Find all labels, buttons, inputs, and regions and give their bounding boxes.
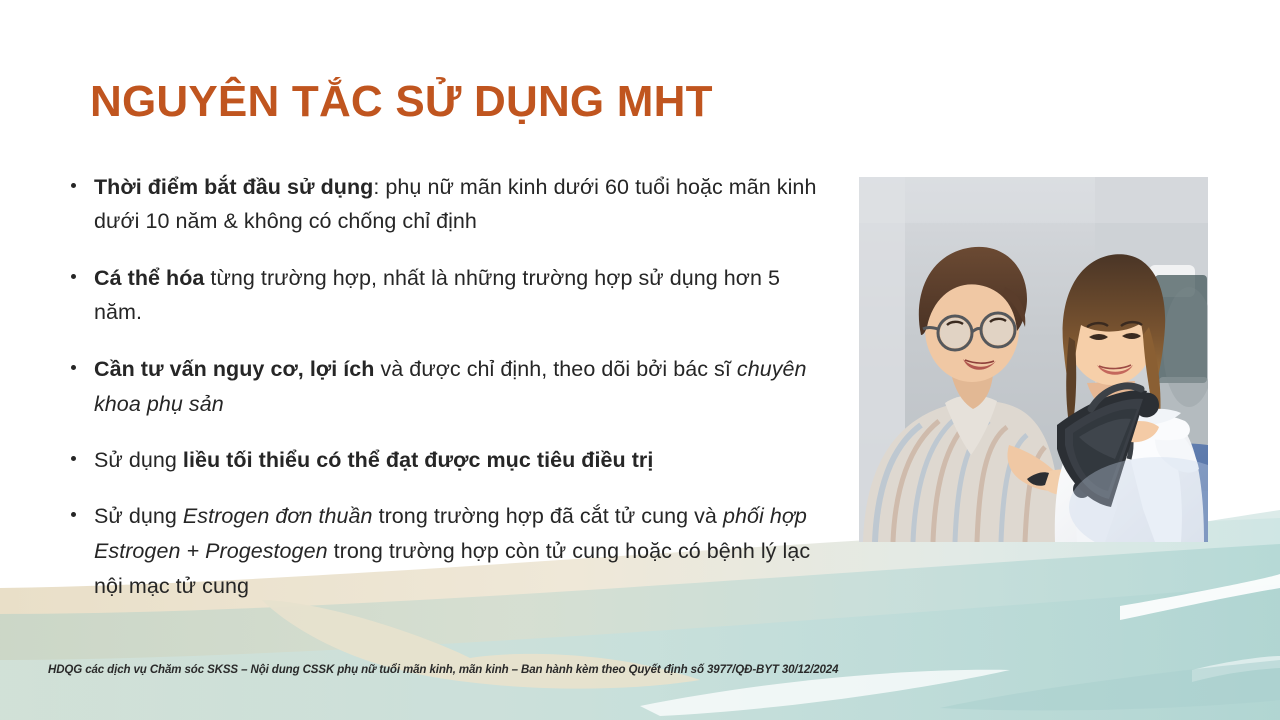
page-title: NGUYÊN TẮC SỬ DỤNG MHT xyxy=(90,77,713,128)
bullet-5-mid-1: trong trường hợp đã cắt tử cung và xyxy=(373,504,723,528)
bullet-can-tu-van: Cần tư vấn nguy cơ, lợi ích và được chỉ … xyxy=(62,352,822,422)
bullet-4-bold-tail: liều tối thiểu có thể đạt được mục tiêu … xyxy=(183,448,653,472)
bullet-4-lead: Sử dụng xyxy=(94,448,183,472)
bullet-dot-icon xyxy=(71,456,76,461)
slide-nguyen-tac-su-dung-mht: NGUYÊN TẮC SỬ DỤNG MHT Thời điểm bắt đầu… xyxy=(0,0,1280,720)
bullet-dot-icon xyxy=(71,512,76,517)
bullet-3-rest: và được chỉ định, theo dõi bởi bác sĩ xyxy=(374,357,736,381)
bullet-2-lead: Cá thể hóa xyxy=(94,266,204,290)
bullet-5-lead: Sử dụng xyxy=(94,504,183,528)
bullet-ca-the-hoa: Cá thể hóa từng trường hợp, nhất là nhữn… xyxy=(62,261,822,331)
clinic-consultation-photo xyxy=(859,177,1208,542)
bullet-list: Thời điểm bắt đầu sử dụng: phụ nữ mãn ki… xyxy=(62,148,822,604)
bullet-lieu-toi-thieu: Sử dụng liều tối thiểu có thể đạt được m… xyxy=(62,443,822,478)
bullet-estrogen: Sử dụng Estrogen đơn thuần trong trường … xyxy=(62,499,822,603)
bullet-5-italic-estrogen: Estrogen đơn thuần xyxy=(183,504,373,528)
bullet-thoi-diem-bat-dau: Thời điểm bắt đầu sử dụng: phụ nữ mãn ki… xyxy=(62,170,822,240)
bullet-dot-icon xyxy=(71,365,76,370)
bullet-1-lead: Thời điểm bắt đầu sử dụng xyxy=(94,175,373,199)
bullet-3-lead: Cần tư vấn nguy cơ, lợi ích xyxy=(94,357,374,381)
bullet-dot-icon xyxy=(71,274,76,279)
footer-source-note: HDQG các dịch vụ Chăm sóc SKSS – Nội dun… xyxy=(48,664,838,676)
bullet-dot-icon xyxy=(71,183,76,188)
photo-illustration xyxy=(859,177,1208,542)
